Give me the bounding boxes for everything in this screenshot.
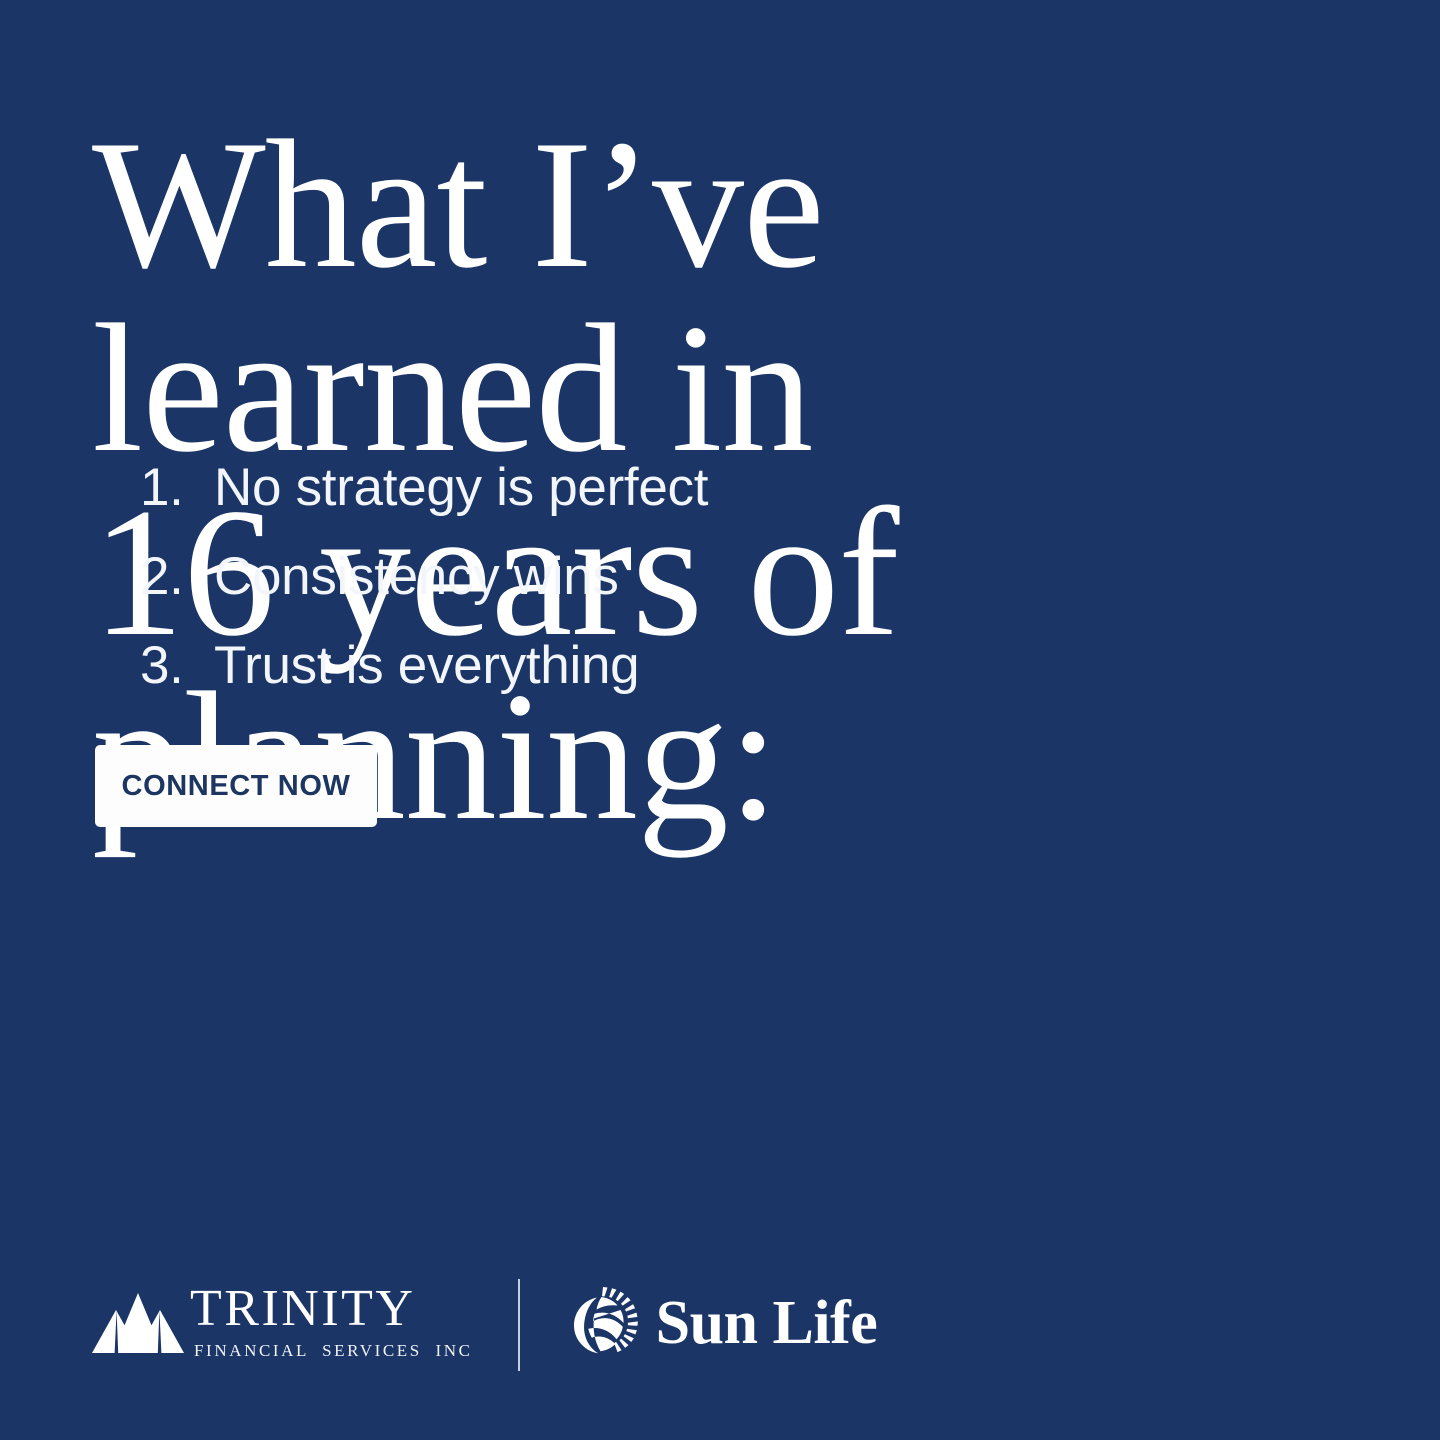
list-item-label: No strategy is perfect — [214, 443, 1240, 532]
list-item-number: 2. — [140, 532, 214, 621]
footer-logo-lockup: TRINITY FINANCIAL SERVICES INC — [92, 1270, 877, 1380]
list-item-label: Consistency wins — [214, 532, 1240, 621]
trinity-wordmark: TRINITY FINANCIAL SERVICES INC — [190, 1279, 473, 1359]
trinity-name: TRINITY — [190, 1283, 473, 1335]
sun-globe-icon — [564, 1286, 642, 1364]
list-item: 3. Trust is everything — [140, 621, 1240, 710]
list-item: 1. No strategy is perfect — [140, 443, 1240, 532]
connect-now-button[interactable]: CONNECT NOW — [95, 745, 377, 827]
lessons-list: 1. No strategy is perfect 2. Consistency… — [140, 443, 1240, 710]
trinity-logo: TRINITY FINANCIAL SERVICES INC — [92, 1279, 473, 1371]
list-item: 2. Consistency wins — [140, 532, 1240, 621]
sunlife-wordmark: Sun Life — [656, 1292, 878, 1354]
social-post-canvas: What I’ve learned in 16 years of plannin… — [0, 0, 1440, 1440]
sunlife-logo: Sun Life — [564, 1279, 878, 1371]
three-mountains-icon — [92, 1291, 184, 1353]
vertical-divider — [518, 1279, 520, 1371]
list-item-label: Trust is everything — [214, 621, 1240, 710]
list-item-number: 3. — [140, 621, 214, 710]
list-item-number: 1. — [140, 443, 214, 532]
trinity-subtitle: FINANCIAL SERVICES INC — [194, 1342, 473, 1359]
